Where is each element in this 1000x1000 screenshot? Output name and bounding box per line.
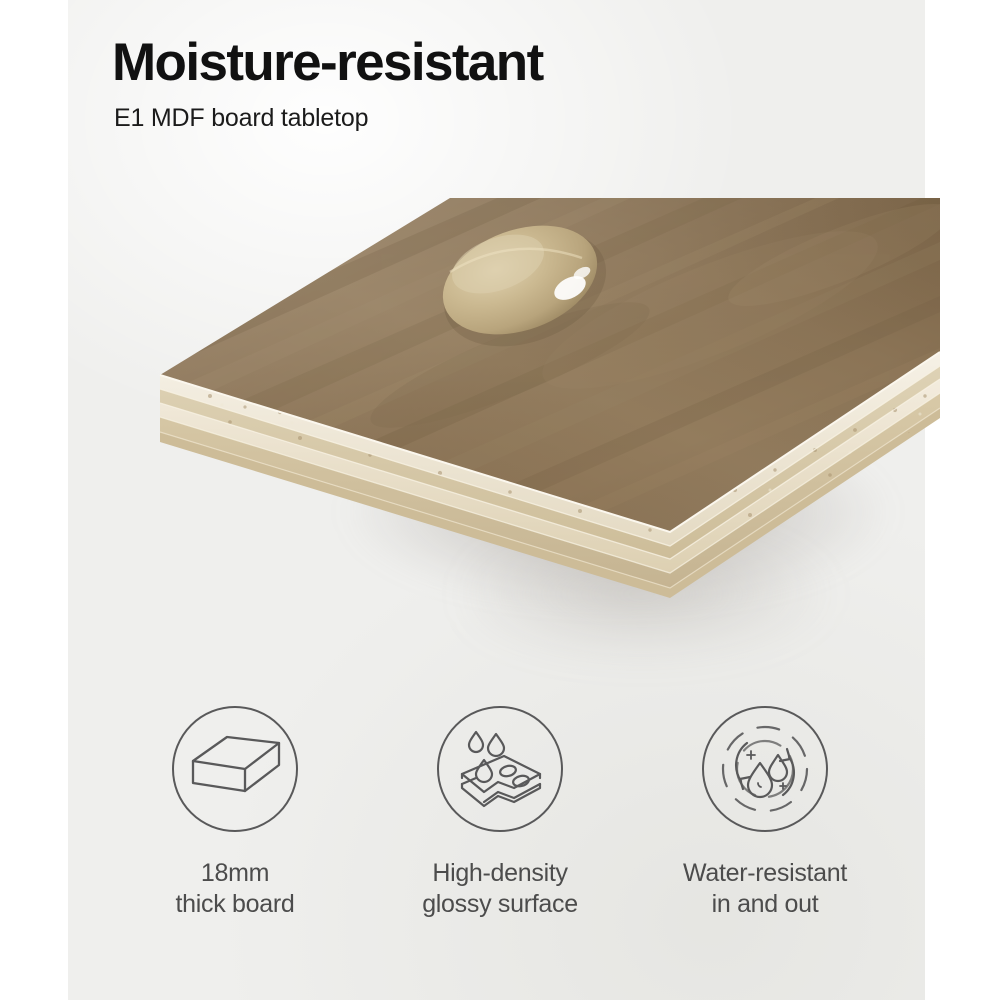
water-resistant-cycle-icon	[702, 706, 828, 832]
mdf-board-illustration	[150, 160, 940, 630]
feature-item-waterproof: Water-resistant in and out	[640, 706, 890, 920]
water-beading-layers-icon	[437, 706, 563, 832]
feature-caption-thickness: 18mm thick board	[176, 858, 295, 920]
board-thickness-icon	[172, 706, 298, 832]
page-title: Moisture-resistant	[112, 34, 543, 92]
feature-item-thickness: 18mm thick board	[110, 706, 360, 920]
feature-caption-glossy: High-density glossy surface	[422, 858, 578, 920]
feature-list: 18mm thick board	[110, 706, 890, 956]
feature-item-glossy: High-density glossy surface	[375, 706, 625, 920]
feature-caption-waterproof: Water-resistant in and out	[683, 858, 847, 920]
product-image	[0, 120, 1000, 640]
product-feature-banner: Moisture-resistant E1 MDF board tabletop	[0, 0, 1000, 1000]
